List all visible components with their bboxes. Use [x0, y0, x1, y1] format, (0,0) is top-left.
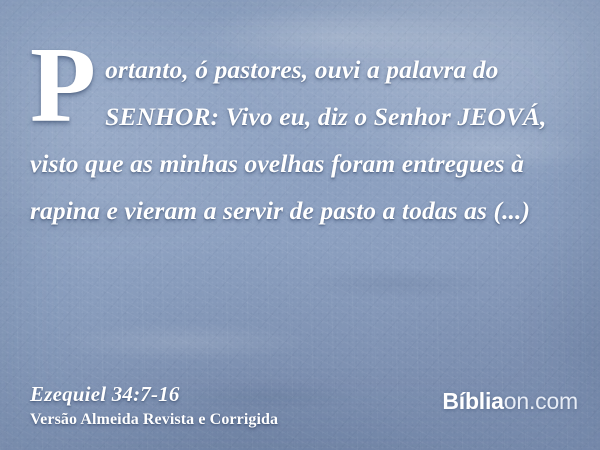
verse-text-block: Portanto, ó pastores, ouvi a palavra do …: [30, 46, 578, 234]
footer-block: Ezequiel 34:7-16 Versão Almeida Revista …: [30, 381, 278, 431]
verse-reference: Ezequiel 34:7-16: [30, 381, 278, 408]
logo-bold-text: Bíblia: [442, 388, 503, 414]
bibliaon-logo[interactable]: Bíbliaon.com: [442, 388, 578, 414]
verse-dropcap: P: [30, 42, 105, 128]
bible-version-label: Versão Almeida Revista e Corrigida: [30, 408, 278, 431]
logo-light-text: on.com: [504, 388, 578, 414]
verse-image-card: Portanto, ó pastores, ouvi a palavra do …: [0, 0, 600, 450]
verse-body: ortanto, ó pastores, ouvi a palavra do S…: [30, 55, 547, 225]
